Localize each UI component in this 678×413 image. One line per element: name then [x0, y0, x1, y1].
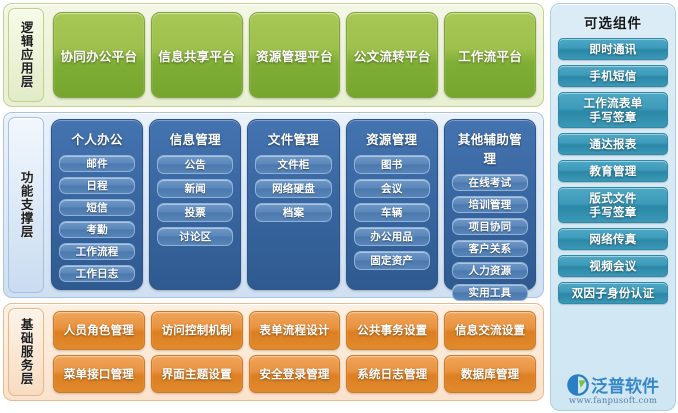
optional-video-conference[interactable]: 视频会议: [558, 255, 668, 277]
chip-project-collaboration[interactable]: 项目协同: [452, 218, 528, 235]
layer-function-support: 功能支撑层 个人办公 邮件 日程 短信 考勤 工作流程 工作日志 信息管理 公告…: [3, 112, 544, 298]
optional-label-line: 网络传真: [589, 232, 636, 246]
chip-sms[interactable]: 短信: [59, 199, 135, 216]
function-column-personal-office: 个人办公 邮件 日程 短信 考勤 工作流程 工作日志: [51, 119, 143, 290]
chip-vehicle[interactable]: 车辆: [354, 203, 430, 222]
function-column-file-management: 文件管理 文件柜 网络硬盘 档案: [247, 119, 339, 290]
optional-label-line: 版式文件: [589, 191, 636, 205]
base-tile-grid: 人员角色管理 访问控制机制 表单流程设计 公共事务设置 信息交流设置 菜单接口管…: [46, 304, 543, 400]
base-tile-access-control[interactable]: 访问控制机制: [151, 311, 243, 350]
chip-customer-relations[interactable]: 客户关系: [452, 240, 528, 257]
chip-fixed-assets[interactable]: 固定资产: [354, 251, 430, 270]
optional-label-line: 即时通讯: [589, 42, 636, 56]
function-column-other-auxiliary: 其他辅助管理 在线考试 培训管理 项目协同 客户关系 人力资源 实用工具: [444, 119, 536, 290]
chip-attendance[interactable]: 考勤: [59, 221, 135, 238]
logo-text: 泛普软件: [591, 372, 659, 397]
app-tile-information-sharing[interactable]: 信息共享平台: [151, 12, 243, 98]
chip-work-process[interactable]: 工作流程: [59, 243, 135, 260]
optional-instant-messaging[interactable]: 即时通讯: [558, 38, 668, 60]
column-title: 文件管理: [255, 129, 331, 148]
fanpu-logo-icon: [567, 374, 589, 396]
optional-label-line: 双因子身份认证: [572, 286, 655, 300]
chip-human-resources[interactable]: 人力资源: [452, 262, 528, 279]
optional-label-line: 手写签章: [589, 110, 636, 124]
optional-label-line: 教育管理: [589, 164, 636, 178]
chip-archive[interactable]: 档案: [255, 203, 331, 222]
layer-application-label-text: 逻辑应用层: [19, 21, 32, 89]
chip-meeting[interactable]: 会议: [354, 179, 430, 198]
column-title: 信息管理: [157, 129, 233, 148]
chip-announcement[interactable]: 公告: [157, 155, 233, 174]
function-column-information-management: 信息管理 公告 新闻 投票 讨论区: [149, 119, 241, 290]
base-tile-system-log-management[interactable]: 系统日志管理: [346, 355, 438, 394]
optional-mobile-sms[interactable]: 手机短信: [558, 65, 668, 87]
optional-label-line: 工作流表单: [584, 96, 643, 110]
layer-stack: 逻辑应用层 协同办公平台 信息共享平台 资源管理平台 公文流转平台 工作流平台 …: [3, 3, 544, 411]
optional-label-line: 手机短信: [589, 69, 636, 83]
layer-application: 逻辑应用层 协同办公平台 信息共享平台 资源管理平台 公文流转平台 工作流平台: [3, 3, 544, 107]
app-tile-document-circulation[interactable]: 公文流转平台: [346, 12, 438, 98]
optional-label-line: 视频会议: [589, 259, 636, 273]
base-tile-personnel-role-management[interactable]: 人员角色管理: [53, 311, 145, 350]
optional-label-line: 手写签章: [589, 205, 636, 219]
function-column-row: 个人办公 邮件 日程 短信 考勤 工作流程 工作日志 信息管理 公告 新闻 投票…: [46, 113, 543, 297]
chip-network-disk[interactable]: 网络硬盘: [255, 179, 331, 198]
optional-network-fax[interactable]: 网络传真: [558, 228, 668, 250]
app-tile-collaborative-office[interactable]: 协同办公平台: [53, 12, 145, 98]
base-tile-secure-login-management[interactable]: 安全登录管理: [249, 355, 341, 394]
column-title: 其他辅助管理: [452, 129, 528, 167]
layer-application-label: 逻辑应用层: [8, 8, 44, 102]
watermark-logo: 泛普软件 www.fanpusoft.com: [555, 372, 671, 406]
optional-components-panel: 可选组件 即时通讯 手机短信 工作流表单 手写签章 通达报表 教育管理 版式文件…: [550, 3, 676, 411]
base-tile-menu-interface-management[interactable]: 菜单接口管理: [53, 355, 145, 394]
chip-online-exam[interactable]: 在线考试: [452, 174, 528, 191]
optional-tongda-reports[interactable]: 通达报表: [558, 133, 668, 155]
optional-education-management[interactable]: 教育管理: [558, 160, 668, 182]
column-title: 个人办公: [59, 129, 135, 148]
chip-mail[interactable]: 邮件: [59, 155, 135, 172]
layer-function-label: 功能支撑层: [8, 117, 44, 293]
layer-function-label-text: 功能支撑层: [19, 171, 32, 239]
chip-utility-tools[interactable]: 实用工具: [452, 284, 528, 301]
base-tile-ui-theme-settings[interactable]: 界面主题设置: [151, 355, 243, 394]
chip-office-supplies[interactable]: 办公用品: [354, 227, 430, 246]
logo-row: 泛普软件: [567, 372, 659, 397]
chip-file-cabinet[interactable]: 文件柜: [255, 155, 331, 174]
chip-discussion[interactable]: 讨论区: [157, 227, 233, 246]
chip-news[interactable]: 新闻: [157, 179, 233, 198]
base-tile-information-exchange-settings[interactable]: 信息交流设置: [444, 311, 536, 350]
optional-workflow-form-handwritten-signature[interactable]: 工作流表单 手写签章: [558, 92, 668, 128]
base-tile-form-process-design[interactable]: 表单流程设计: [249, 311, 341, 350]
chip-schedule[interactable]: 日程: [59, 177, 135, 194]
chip-books[interactable]: 图书: [354, 155, 430, 174]
app-tile-resource-management[interactable]: 资源管理平台: [249, 12, 341, 98]
base-tile-public-affairs-settings[interactable]: 公共事务设置: [346, 311, 438, 350]
architecture-diagram: 逻辑应用层 协同办公平台 信息共享平台 资源管理平台 公文流转平台 工作流平台 …: [0, 0, 678, 413]
app-tile-workflow[interactable]: 工作流平台: [444, 12, 536, 98]
layer-base-label: 基础服务层: [8, 308, 44, 396]
optional-two-factor-authentication[interactable]: 双因子身份认证: [558, 282, 668, 304]
logo-url: www.fanpusoft.com: [569, 396, 657, 406]
chip-training-management[interactable]: 培训管理: [452, 196, 528, 213]
optional-label-line: 通达报表: [589, 137, 636, 151]
layer-base-service: 基础服务层 人员角色管理 访问控制机制 表单流程设计 公共事务设置 信息交流设置…: [3, 303, 544, 401]
layer-base-label-text: 基础服务层: [19, 318, 32, 386]
column-title: 资源管理: [354, 129, 430, 148]
optional-components-title: 可选组件: [558, 12, 668, 32]
chip-work-log[interactable]: 工作日志: [59, 265, 135, 282]
optional-layout-file-handwritten-signature[interactable]: 版式文件 手写签章: [558, 187, 668, 223]
function-column-resource-management: 资源管理 图书 会议 车辆 办公用品 固定资产: [346, 119, 438, 290]
chip-vote[interactable]: 投票: [157, 203, 233, 222]
application-tile-row: 协同办公平台 信息共享平台 资源管理平台 公文流转平台 工作流平台: [46, 4, 543, 106]
base-tile-database-management[interactable]: 数据库管理: [444, 355, 536, 394]
